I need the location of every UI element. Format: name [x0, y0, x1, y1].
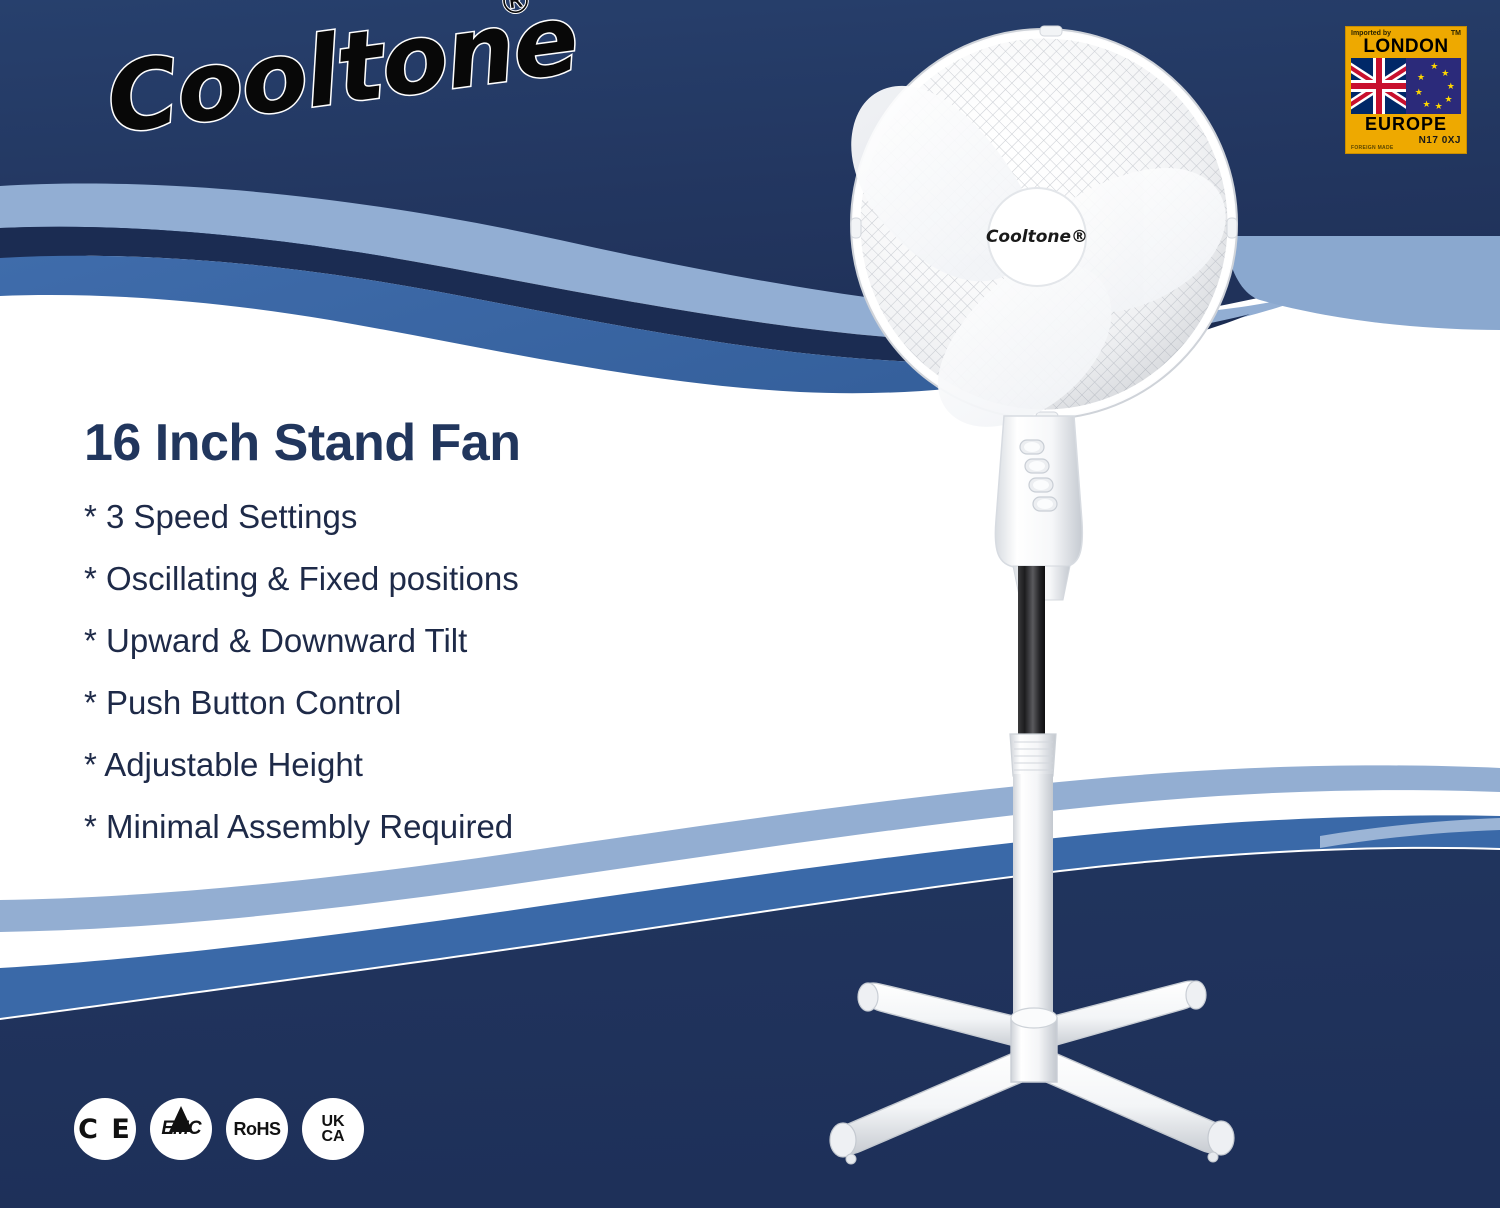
eu-flag-icon: ★ ★ ★ ★ ★ ★ ★ ★	[1406, 58, 1461, 114]
rohs-mark-icon: RoHS	[226, 1098, 288, 1160]
list-item: * Minimal Assembly Required	[84, 810, 804, 843]
union-jack-flag-icon	[1351, 58, 1406, 114]
ukca-mark-label: UK CA	[321, 1114, 344, 1144]
list-item: * Upward & Downward Tilt	[84, 624, 804, 657]
badge-tm-label: TM	[1451, 30, 1461, 37]
list-item: * Push Button Control	[84, 686, 804, 719]
list-item: * Adjustable Height	[84, 748, 804, 781]
badge-europe-label: EUROPE	[1351, 115, 1461, 134]
page-title: 16 Inch Stand Fan	[84, 413, 520, 473]
list-item: * 3 Speed Settings	[84, 500, 804, 533]
product-packaging-image: Cooltone ® Imported by TM LONDON ★ ★ ★ ★…	[0, 0, 1500, 1208]
badge-london-label: LONDON	[1351, 37, 1461, 57]
rohs-mark-label: RoHS	[234, 1119, 281, 1140]
ukca-mark-icon: UK CA	[302, 1098, 364, 1160]
london-europe-import-badge: Imported by TM LONDON ★ ★ ★ ★ ★ ★ ★ ★ EU…	[1345, 26, 1467, 154]
ce-mark-icon: C E	[74, 1098, 136, 1160]
emc-mark-label: EMC	[161, 1118, 200, 1140]
ce-mark-label: C E	[78, 1114, 132, 1145]
badge-flags: ★ ★ ★ ★ ★ ★ ★ ★	[1351, 58, 1461, 114]
emc-mark-icon: EMC	[150, 1098, 212, 1160]
certification-badges: C E EMC RoHS UK CA	[74, 1098, 364, 1160]
emc-triangle-icon	[169, 1106, 193, 1132]
feature-list: * 3 Speed Settings * Oscillating & Fixed…	[84, 500, 804, 872]
list-item: * Oscillating & Fixed positions	[84, 562, 804, 595]
